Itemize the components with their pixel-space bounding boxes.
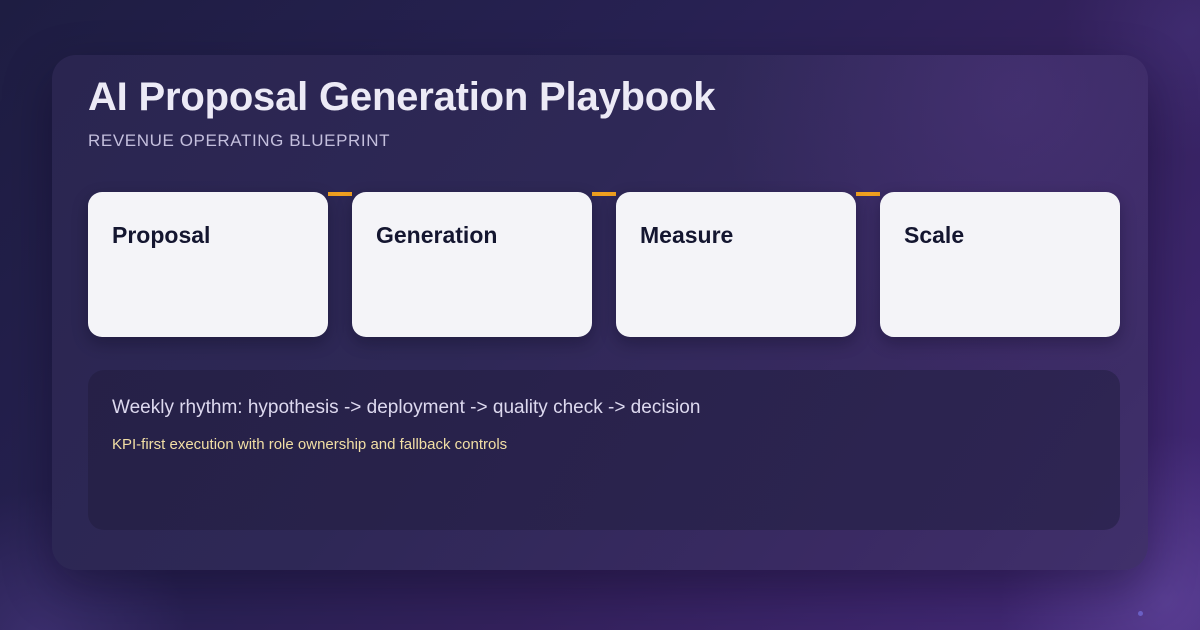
step-connector-1 xyxy=(328,192,352,196)
process-flow: Proposal Generation Measure Scale xyxy=(88,192,1148,337)
step-card-scale[interactable]: Scale xyxy=(880,192,1120,337)
step-label: Generation xyxy=(376,222,497,249)
step-wrapper-4: Scale xyxy=(880,192,1120,337)
step-wrapper-3: Measure xyxy=(616,192,856,337)
content-panel: AI Proposal Generation Playbook REVENUE … xyxy=(52,55,1148,570)
accent-dot xyxy=(1138,611,1143,616)
step-wrapper-1: Proposal xyxy=(88,192,328,337)
step-wrapper-2: Generation xyxy=(352,192,592,337)
header: AI Proposal Generation Playbook REVENUE … xyxy=(88,73,1108,151)
step-card-generation[interactable]: Generation xyxy=(352,192,592,337)
step-card-proposal[interactable]: Proposal xyxy=(88,192,328,337)
step-connector-2 xyxy=(592,192,616,196)
note-primary-text: Weekly rhythm: hypothesis -> deployment … xyxy=(112,397,700,419)
step-label: Scale xyxy=(904,222,964,249)
step-connector-3 xyxy=(856,192,880,196)
step-label: Proposal xyxy=(112,222,210,249)
page-title: AI Proposal Generation Playbook xyxy=(88,73,1108,122)
step-label: Measure xyxy=(640,222,733,249)
step-card-measure[interactable]: Measure xyxy=(616,192,856,337)
summary-note-panel: Weekly rhythm: hypothesis -> deployment … xyxy=(88,370,1120,530)
note-secondary-text: KPI-first execution with role ownership … xyxy=(112,436,507,453)
page-subtitle: REVENUE OPERATING BLUEPRINT xyxy=(88,131,1108,151)
slide-canvas: AI Proposal Generation Playbook REVENUE … xyxy=(0,0,1200,630)
